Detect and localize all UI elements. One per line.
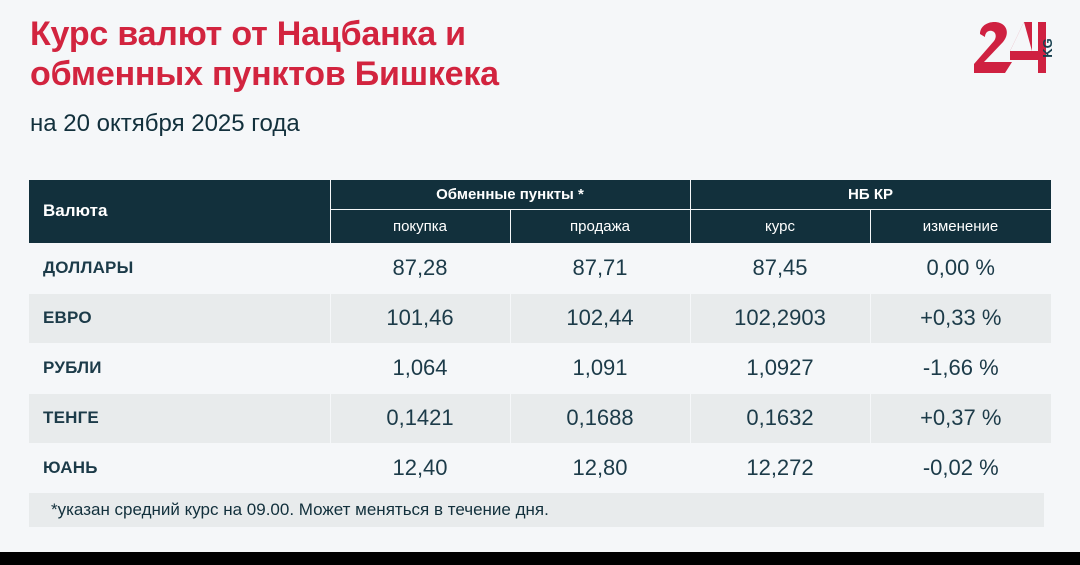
cell-change: +0,33 %	[870, 293, 1051, 343]
column-group-header-exchange-points: Обменные пункты *	[330, 180, 690, 209]
table-row: ЕВРО 101,46 102,44 102,2903 +0,33 %	[29, 293, 1051, 343]
cell-sell: 1,091	[510, 343, 690, 393]
svg-text:KG: KG	[1040, 38, 1055, 58]
table-footnote: *указан средний курс на 09.00. Может мен…	[29, 493, 1044, 527]
cell-rate: 0,1632	[690, 393, 870, 443]
cell-sell: 102,44	[510, 293, 690, 343]
table-row: ТЕНГЕ 0,1421 0,1688 0,1632 +0,37 %	[29, 393, 1051, 443]
table-header: Валюта Обменные пункты * НБ КР покупка п…	[29, 180, 1051, 243]
table-header-group-row: Валюта Обменные пункты * НБ КР	[29, 180, 1051, 209]
column-header-rate: курс	[690, 209, 870, 243]
table-row: РУБЛИ 1,064 1,091 1,0927 -1,66 %	[29, 343, 1051, 393]
cell-rate: 1,0927	[690, 343, 870, 393]
footnote-text: *указан средний курс на 09.00. Может мен…	[51, 500, 549, 520]
bottom-bar	[0, 552, 1080, 565]
cell-buy: 101,46	[330, 293, 510, 343]
cell-change: +0,37 %	[870, 393, 1051, 443]
currency-rates-table-wrapper: Валюта Обменные пункты * НБ КР покупка п…	[29, 180, 1051, 494]
cell-sell: 87,71	[510, 243, 690, 293]
currency-rates-table: Валюта Обменные пункты * НБ КР покупка п…	[29, 180, 1052, 494]
cell-rate: 102,2903	[690, 293, 870, 343]
cell-currency: ЮАНЬ	[29, 443, 330, 493]
cell-buy: 12,40	[330, 443, 510, 493]
cell-buy: 0,1421	[330, 393, 510, 443]
column-header-buy: покупка	[330, 209, 510, 243]
cell-buy: 1,064	[330, 343, 510, 393]
24kg-logo: KG	[972, 20, 1058, 74]
cell-currency: ДОЛЛАРЫ	[29, 243, 330, 293]
cell-currency: РУБЛИ	[29, 343, 330, 393]
cell-rate: 12,272	[690, 443, 870, 493]
cell-change: -0,02 %	[870, 443, 1051, 493]
cell-rate: 87,45	[690, 243, 870, 293]
table-body: ДОЛЛАРЫ 87,28 87,71 87,45 0,00 % ЕВРО 10…	[29, 243, 1051, 493]
cell-sell: 0,1688	[510, 393, 690, 443]
column-header-change: изменение	[870, 209, 1051, 243]
column-header-currency: Валюта	[29, 180, 330, 243]
cell-change: -1,66 %	[870, 343, 1051, 393]
cell-sell: 12,80	[510, 443, 690, 493]
cell-buy: 87,28	[330, 243, 510, 293]
cell-currency: ТЕНГЕ	[29, 393, 330, 443]
table-row: ЮАНЬ 12,40 12,80 12,272 -0,02 %	[29, 443, 1051, 493]
page-subtitle: на 20 октября 2025 года	[30, 110, 930, 138]
column-group-header-national-bank: НБ КР	[690, 180, 1051, 209]
column-header-sell: продажа	[510, 209, 690, 243]
page-header: Курс валют от Нацбанка и обменных пункто…	[30, 14, 930, 138]
cell-change: 0,00 %	[870, 243, 1051, 293]
table-row: ДОЛЛАРЫ 87,28 87,71 87,45 0,00 %	[29, 243, 1051, 293]
cell-currency: ЕВРО	[29, 293, 330, 343]
page-title: Курс валют от Нацбанка и обменных пункто…	[30, 14, 930, 94]
